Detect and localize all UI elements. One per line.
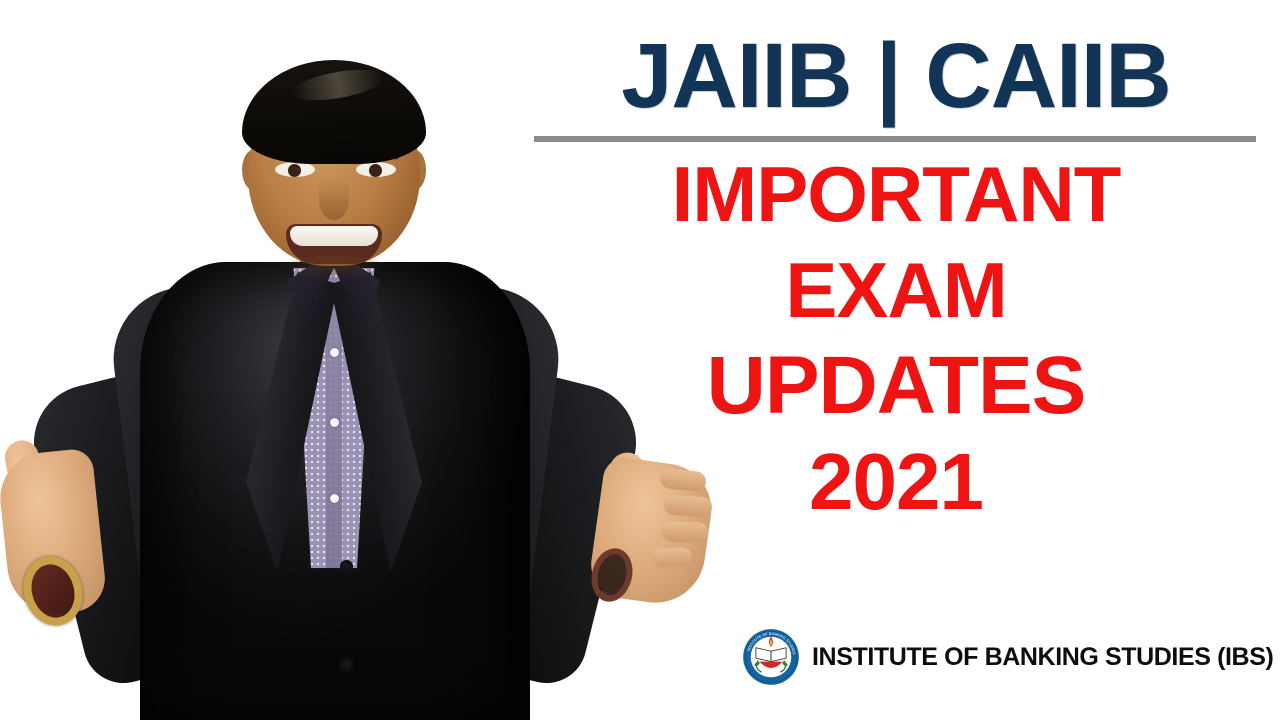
teeth — [290, 226, 378, 246]
nose — [319, 180, 349, 220]
eye-right — [356, 162, 396, 177]
shirt-button — [330, 494, 339, 503]
subtitle-line-2: EXAM — [520, 242, 1272, 338]
shirt-button — [330, 348, 339, 357]
brand-footer: INSTITUTE OF BANKING STUDIES INSTITUTE O… — [742, 628, 1273, 686]
subtitle-line-1: IMPORTANT — [520, 146, 1272, 242]
pupil — [369, 164, 382, 177]
shirt-button — [330, 418, 339, 427]
pupil — [288, 164, 301, 177]
jacket-button — [340, 658, 353, 671]
eye-left — [275, 162, 315, 177]
subtitle-year: 2021 — [520, 434, 1272, 530]
headline-block: JAIIB | CAIIB IMPORTANT EXAM UPDATES 202… — [520, 22, 1272, 530]
brand-name: INSTITUTE OF BANKING STUDIES (IBS) — [812, 643, 1273, 672]
subtitle-line-3: UPDATES — [520, 338, 1272, 434]
page-title: JAIIB | CAIIB — [520, 22, 1272, 130]
jacket-button — [340, 560, 353, 573]
video-thumbnail: JAIIB | CAIIB IMPORTANT EXAM UPDATES 202… — [0, 0, 1280, 720]
title-divider — [534, 136, 1256, 142]
ibs-circular-emblem-icon: INSTITUTE OF BANKING STUDIES — [742, 628, 800, 686]
chin-shadow — [278, 256, 390, 282]
finger — [652, 547, 693, 568]
